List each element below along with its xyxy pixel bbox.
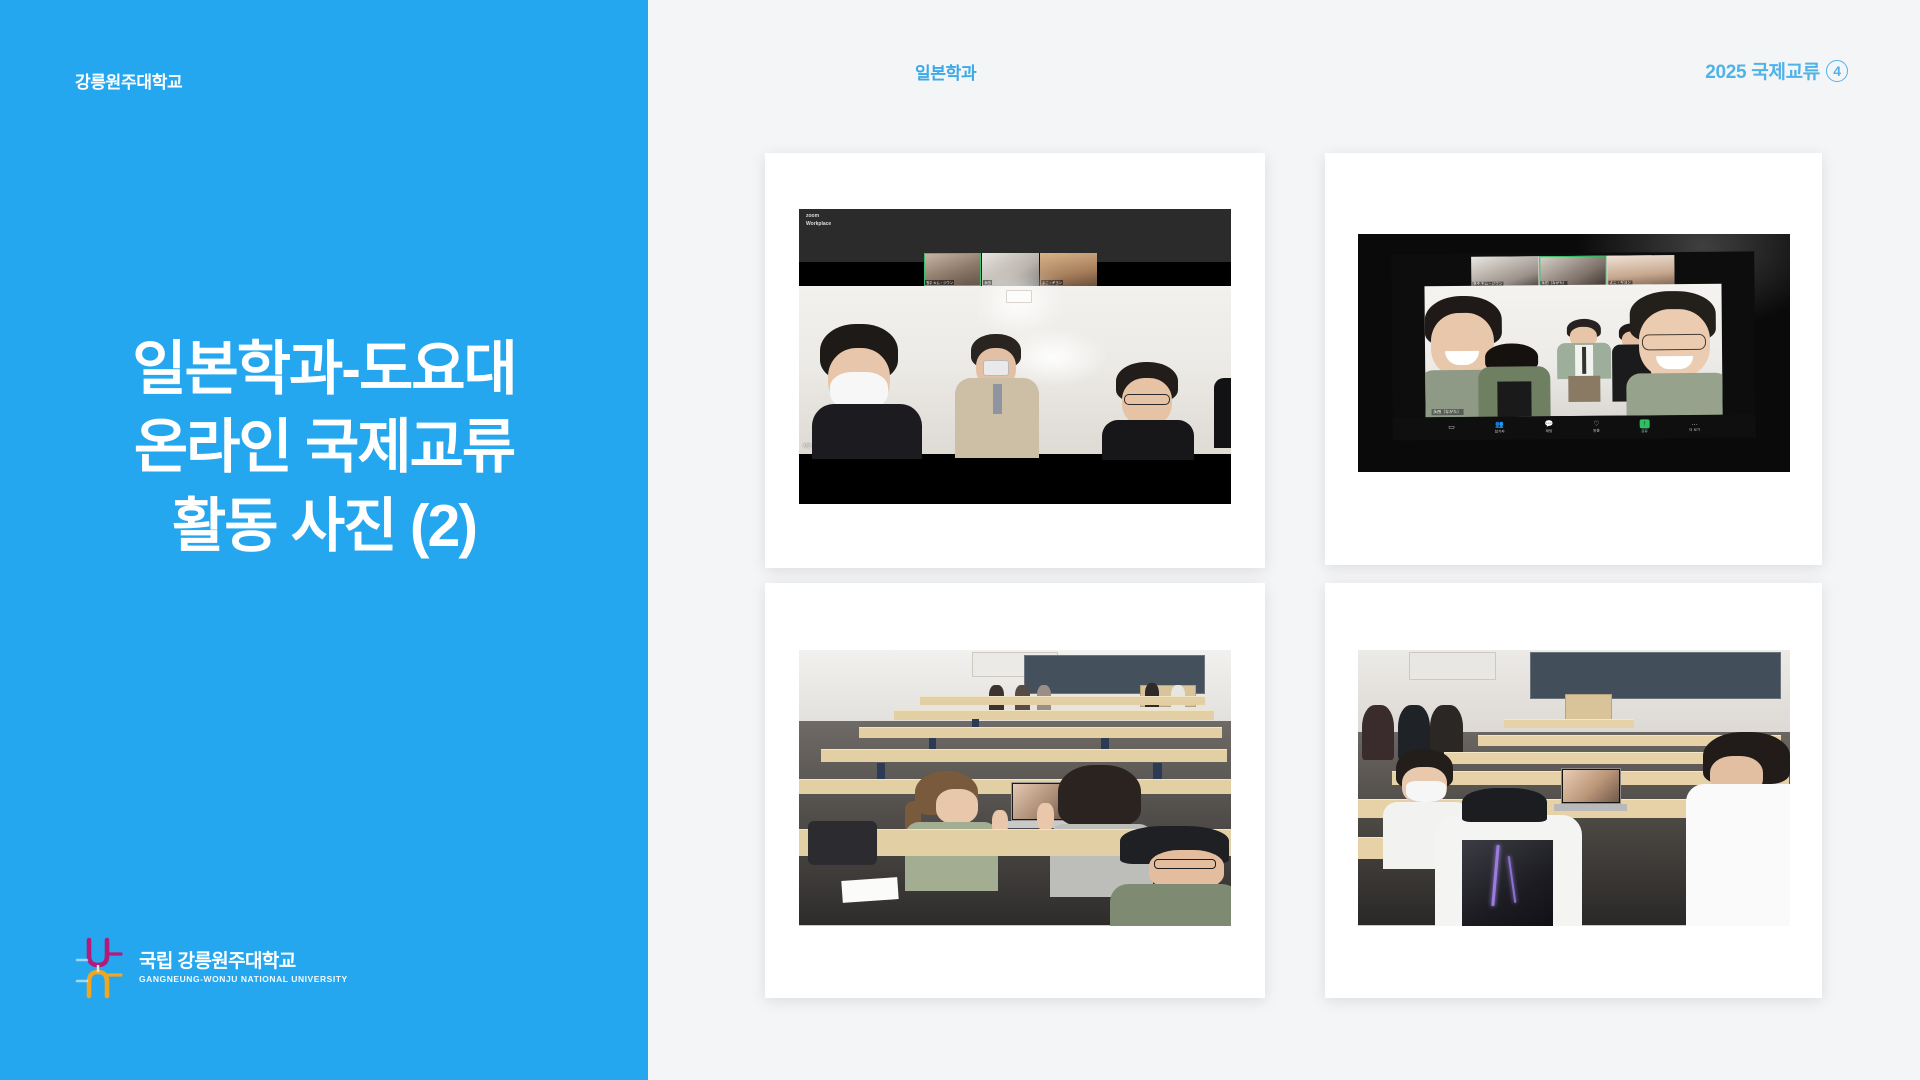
university-logo-korean: 국립 강릉원주대학교 xyxy=(139,951,348,973)
person-glasses-right xyxy=(1624,291,1723,416)
slide-root: 강릉원주대학교 일본학과-도요대 온라인 국제교류 활동 사진 (2) 국립 강… xyxy=(0,0,1920,1080)
student-white-shirt-right xyxy=(1686,732,1790,925)
university-logo-mark xyxy=(75,934,127,1002)
zoom-reactions-button[interactable]: ♡ 반응 xyxy=(1593,421,1600,434)
monitor-screen: 원주 キム・ジウン 永田（ながた） よこ・ギヨン xyxy=(1391,251,1755,440)
ceiling-light xyxy=(1006,290,1032,303)
paper-handout xyxy=(841,877,899,903)
photo-card-bottom-right[interactable] xyxy=(1325,583,1822,998)
header-department-label: 일본학과 xyxy=(915,59,976,84)
zoom-thumbnail-strip: 원주 キム・ジウン 永田 よこ・ギヨン xyxy=(924,253,1097,285)
zoom-chat-label: 채팅 xyxy=(1546,429,1553,434)
photo-classroom-two-students-laptop xyxy=(799,650,1231,926)
chalkboard xyxy=(1530,652,1781,699)
university-logo-english: GANGNEUNG-WONJU NATIONAL UNIVERSITY xyxy=(139,974,348,985)
zoom-main-video: 永田（ながた） xyxy=(1424,283,1723,417)
header-slide-label: 2025 국제교류 4 xyxy=(1705,57,1848,84)
person-green-jacket xyxy=(1478,343,1550,417)
photo-zoom-meeting-classroom: zoom Workplace 원주 キム・ジウン 永田 よこ・ギヨン xyxy=(799,209,1231,504)
video-icon: ▭ xyxy=(1448,425,1455,432)
classroom-desk xyxy=(859,727,1222,738)
zoom-participants-button[interactable]: 👥 참가자 xyxy=(1495,422,1505,435)
person-taking-photo xyxy=(955,334,1039,454)
classroom-desk xyxy=(821,749,1227,762)
page-title-line-1: 일본학과-도요대 xyxy=(0,330,648,408)
zoom-share-label: 공유 xyxy=(1641,429,1648,434)
jacket-graphic-print xyxy=(1462,840,1553,925)
zoom-thumbnail-name: よこ・ギヨン xyxy=(1041,280,1063,285)
zoom-share-button[interactable]: ↑ 공유 xyxy=(1640,419,1650,434)
share-icon: ↑ xyxy=(1640,419,1650,428)
zoom-app-logo: zoom Workplace xyxy=(806,213,831,228)
header-slide-label-text: 2025 국제교류 xyxy=(1705,57,1820,84)
zoom-thumbnail[interactable]: 원주 キム・ジウン xyxy=(924,253,981,285)
jacket-on-desk xyxy=(808,821,877,865)
zoom-thumbnail-name: 원주 キム・ジウン xyxy=(925,280,954,285)
student-cap-foreground xyxy=(1435,788,1582,926)
zoom-thumbnail[interactable]: 永田（ながた） xyxy=(1539,256,1606,288)
participants-icon: 👥 xyxy=(1495,422,1504,429)
zoom-participants-label: 참가자 xyxy=(1495,430,1505,435)
classroom-desk xyxy=(920,696,1205,704)
zoom-thumbnail[interactable]: 永田 xyxy=(982,253,1039,285)
zoom-app-name: zoom xyxy=(806,213,831,221)
zoom-toolbar: ▭ 👥 참가자 💬 채팅 ♡ 반응 xyxy=(1393,415,1756,440)
photo-card-bottom-left[interactable] xyxy=(765,583,1265,998)
photo-classroom-group-laptop xyxy=(1358,650,1790,926)
zoom-reactions-label: 반응 xyxy=(1593,429,1600,434)
photo-monitor-zoom-gallery: 원주 キム・ジウン 永田（ながた） よこ・ギヨン xyxy=(1358,234,1790,472)
university-logo: 국립 강릉원주대학교 GANGNEUNG-WONJU NATIONAL UNIV… xyxy=(75,934,348,1002)
zoom-thumbnail[interactable]: よこ・ギヨン xyxy=(1040,253,1097,285)
photo-card-top-right[interactable]: 원주 キム・ジウン 永田（ながた） よこ・ギヨン xyxy=(1325,153,1822,565)
classroom-desk xyxy=(894,710,1214,719)
zoom-video-button[interactable]: ▭ xyxy=(1448,425,1455,433)
reactions-icon: ♡ xyxy=(1593,421,1599,428)
page-title-line-2: 온라인 국제교류 xyxy=(0,408,648,486)
zoom-app-subtitle: Workplace xyxy=(806,221,831,229)
person-masked-student xyxy=(812,324,922,454)
more-icon: … xyxy=(1691,420,1698,427)
page-title-line-3: 활동 사진 (2) xyxy=(0,487,648,565)
header-slide-number-badge: 4 xyxy=(1826,60,1848,82)
photo-card-top-left[interactable]: zoom Workplace 원주 キム・ジウン 永田 よこ・ギヨン xyxy=(765,153,1265,568)
chat-icon: 💬 xyxy=(1545,421,1554,428)
projector-screen xyxy=(1409,652,1495,680)
left-accent-panel: 강릉원주대학교 일본학과-도요대 온라인 국제교류 활동 사진 (2) 국립 강… xyxy=(0,0,648,1080)
classroom-desk xyxy=(1504,719,1634,728)
page-title: 일본학과-도요대 온라인 국제교류 활동 사진 (2) xyxy=(0,330,648,565)
student-cap-foreground xyxy=(1110,826,1231,925)
person-glasses-student xyxy=(1100,362,1196,454)
zoom-thumbnail[interactable]: 원주 キム・ジウン xyxy=(1471,256,1538,288)
zoom-chat-button[interactable]: 💬 채팅 xyxy=(1545,421,1554,434)
zoom-self-name: 지영 xyxy=(803,443,811,449)
zoom-more-button[interactable]: … 더 보기 xyxy=(1689,420,1700,433)
lecture-podium xyxy=(1565,694,1613,722)
brand-label: 강릉원주대학교 xyxy=(75,68,182,93)
person-edge-partial xyxy=(1214,378,1231,448)
zoom-thumbnail[interactable]: よこ・ギヨン xyxy=(1607,255,1674,287)
zoom-thumbnail-name: 永田 xyxy=(983,280,992,285)
zoom-more-label: 더 보기 xyxy=(1689,428,1700,433)
zoom-self-name: 永田（ながた） xyxy=(1431,409,1463,415)
person-standing-center xyxy=(1555,318,1612,400)
